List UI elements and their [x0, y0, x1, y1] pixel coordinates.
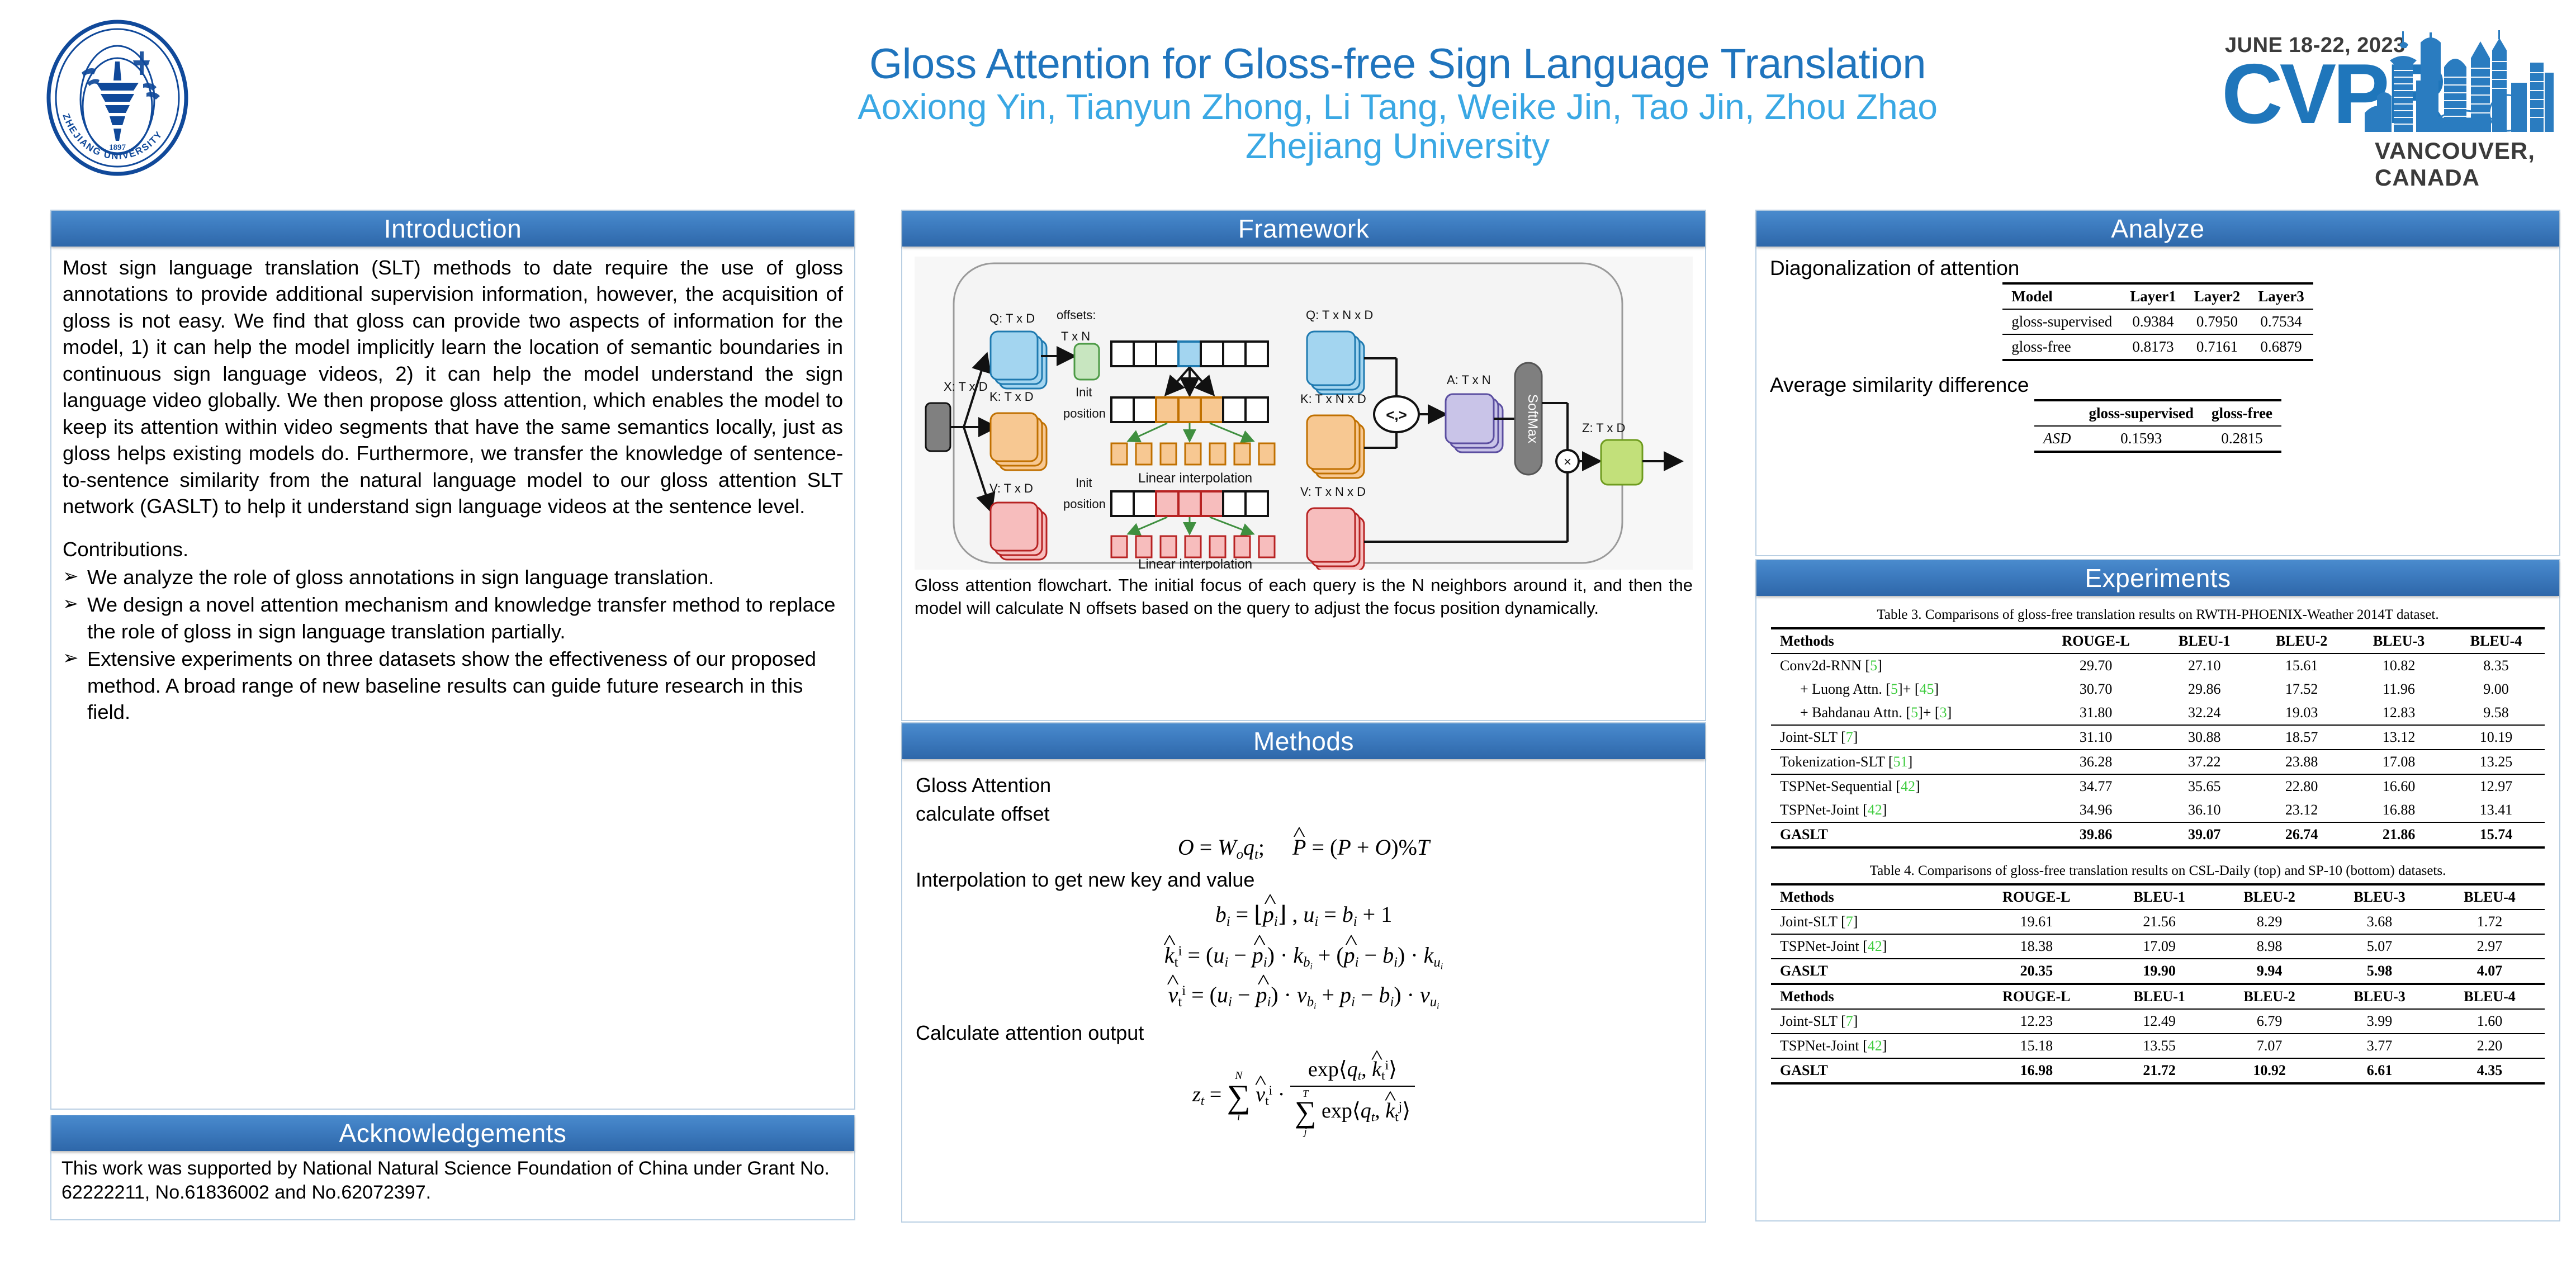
cell-value: 13.25 — [2447, 750, 2545, 774]
contribution-bullet: ➢ Extensive experiments on three dataset… — [63, 646, 843, 725]
col-header: BLEU-1 — [2156, 628, 2253, 654]
arrow-bullet-icon: ➢ — [63, 564, 87, 589]
cell-value: 18.38 — [1969, 934, 2105, 959]
svg-text:position: position — [1063, 406, 1106, 420]
cell-value: 23.12 — [2253, 798, 2350, 822]
cell-value: 12.83 — [2350, 701, 2447, 725]
cell-value: 22.80 — [2253, 774, 2350, 798]
table4: MethodsROUGE-LBLEU-1BLEU-2BLEU-3BLEU-4Jo… — [1771, 883, 2545, 1085]
cell-value: 0.7161 — [2185, 334, 2249, 360]
cell-method: GASLT — [1771, 959, 1969, 984]
poster-header: 1897 ZHEJIANG UNIVERSITY Gloss Attention… — [0, 0, 2576, 196]
svg-text:Q: T x N x D: Q: T x N x D — [1306, 308, 1373, 322]
acknowledgements-text: This work was supported by National Natu… — [61, 1157, 844, 1205]
table-row: gloss-free 0.8173 0.7161 0.6879 — [2002, 334, 2313, 360]
acknowledgements-panel: Acknowledgements This work was supported… — [50, 1115, 855, 1220]
cell-value: 3.68 — [2324, 910, 2435, 934]
cell-method: Joint-SLT [7] — [1771, 725, 2036, 750]
methods-panel: Methods Gloss Attention calculate offset… — [901, 722, 1706, 1223]
svg-text:Init: Init — [1076, 476, 1092, 490]
svg-text:SoftMax: SoftMax — [1525, 394, 1540, 443]
col-header: ROUGE-L — [2036, 628, 2156, 654]
table-row: GASLT16.9821.7210.926.614.35 — [1771, 1058, 2545, 1083]
svg-text:Linear interpolation: Linear interpolation — [1138, 557, 1252, 570]
table3-caption: Table 3. Comparisons of gloss-free trans… — [1771, 607, 2545, 623]
col-header: gloss-supervised — [2080, 400, 2203, 426]
experiments-header: Experiments — [1756, 560, 2559, 596]
cell-value: 10.92 — [2214, 1058, 2324, 1083]
contribution-text: We analyze the role of gloss annotations… — [87, 564, 843, 590]
cell-value: 19.61 — [1969, 910, 2105, 934]
cell-value: 0.9384 — [2121, 309, 2185, 334]
equation-attention-output: zt = N ∑ i vti · exp⟨qt, kti⟩ T ∑ j exp⟨… — [916, 1057, 1692, 1137]
methods-header-label: Methods — [1253, 726, 1354, 756]
cell-value: 0.1593 — [2080, 426, 2203, 452]
equation-value-interp: vti = (ui − pi) · vbi + pi − bi) · vui — [916, 982, 1692, 1011]
reference-number: 42 — [1868, 1038, 1882, 1054]
cell-value: 20.35 — [1969, 959, 2105, 984]
contribution-bullet: ➢ We analyze the role of gloss annotatio… — [63, 564, 843, 590]
cell-value: 3.77 — [2324, 1034, 2435, 1058]
contribution-text: We design a novel attention mechanism an… — [87, 591, 843, 645]
table-row: Conv2d-RNN [5]29.7027.1015.6110.828.35 — [1771, 654, 2545, 678]
cell-value: 16.98 — [1969, 1058, 2105, 1083]
methods-body: Gloss Attention calculate offset O = Woq… — [902, 759, 1705, 1147]
table-row: TSPNet-Joint [42]34.9636.1023.1216.8813.… — [1771, 798, 2545, 822]
cell-method: TSPNet-Sequential [42] — [1771, 774, 2036, 798]
svg-text:Z: T x D: Z: T x D — [1582, 421, 1625, 435]
experiments-body: Table 3. Comparisons of gloss-free trans… — [1756, 596, 2559, 1090]
analyze-header-label: Analyze — [2111, 214, 2204, 244]
framework-body: X: T x D Q: T x D K: T x D V: T x D — [902, 247, 1705, 630]
col-header: ROUGE-L — [1969, 984, 2105, 1009]
cell-value: 9.94 — [2214, 959, 2324, 984]
cell-method: Joint-SLT [7] — [1771, 1009, 1969, 1034]
cell-value: 0.6879 — [2249, 334, 2313, 360]
cell-value: 7.07 — [2214, 1034, 2324, 1058]
table3: Methods ROUGE-L BLEU-1 BLEU-2 BLEU-3 BLE… — [1771, 627, 2545, 849]
cell-value: 0.7950 — [2185, 309, 2249, 334]
svg-text:Q: T x D: Q: T x D — [989, 311, 1035, 325]
svg-text:K: T x N x D: K: T x N x D — [1300, 392, 1366, 406]
svg-text:position: position — [1063, 497, 1106, 511]
analyze-header: Analyze — [1756, 211, 2559, 247]
cell-value: 34.77 — [2036, 774, 2156, 798]
cell-method: TSPNet-Joint [42] — [1771, 1034, 1969, 1058]
cell-value: 18.57 — [2253, 725, 2350, 750]
col-header: Layer1 — [2121, 283, 2185, 309]
reference-number: 5 — [1911, 704, 1918, 721]
reference-number: 7 — [1846, 1013, 1853, 1029]
cell-value: 21.86 — [2350, 822, 2447, 847]
col-header: BLEU-1 — [2104, 984, 2214, 1009]
svg-text:V: T x D: V: T x D — [989, 481, 1033, 495]
cell-value: 10.82 — [2350, 654, 2447, 678]
diagonalization-subtitle: Diagonalization of attention — [1770, 257, 2548, 280]
cell-value: 15.61 — [2253, 654, 2350, 678]
table-row: TSPNet-Joint [42]18.3817.098.985.072.97 — [1771, 934, 2545, 959]
contribution-text: Extensive experiments on three datasets … — [87, 646, 843, 725]
framework-caption: Gloss attention flowchart. The initial f… — [915, 574, 1693, 620]
cell-value: 3.99 — [2324, 1009, 2435, 1034]
cell-value: 27.10 — [2156, 654, 2253, 678]
col-header — [2034, 400, 2080, 426]
cell-value: 30.88 — [2156, 725, 2253, 750]
cell-value: 32.24 — [2156, 701, 2253, 725]
reference-number: 7 — [1846, 913, 1853, 930]
cell-value: 26.74 — [2253, 822, 2350, 847]
cell-value: 12.97 — [2447, 774, 2545, 798]
framework-header-label: Framework — [1238, 214, 1370, 244]
col-header: BLEU-3 — [2324, 984, 2435, 1009]
svg-text:<,>: <,> — [1386, 406, 1407, 423]
col-header: Methods — [1771, 884, 1969, 910]
cell-value: 16.88 — [2350, 798, 2447, 822]
col-header: BLEU-2 — [2253, 628, 2350, 654]
contributions-label: Contributions. — [63, 536, 843, 562]
cell-value: 15.74 — [2447, 822, 2545, 847]
cell-value: 29.70 — [2036, 654, 2156, 678]
col-header: Layer2 — [2185, 283, 2249, 309]
cell-method: TSPNet-Joint [42] — [1771, 798, 2036, 822]
svg-text:T x N: T x N — [1061, 329, 1090, 343]
svg-text:Init: Init — [1076, 385, 1092, 399]
svg-text:offsets:: offsets: — [1057, 308, 1096, 322]
cell-value: 6.61 — [2324, 1058, 2435, 1083]
acknowledgements-header-label: Acknowledgements — [339, 1118, 567, 1148]
cell-value: 5.98 — [2324, 959, 2435, 984]
cell-method: GASLT — [1771, 1058, 1969, 1083]
cell-value: 36.28 — [2036, 750, 2156, 774]
cell-value: 6.79 — [2214, 1009, 2324, 1034]
diagonalization-table: Model Layer1 Layer2 Layer3 gloss-supervi… — [2002, 282, 2313, 361]
cell-value: 17.08 — [2350, 750, 2447, 774]
cell-value: 34.96 — [2036, 798, 2156, 822]
author-list: Aoxiong Yin, Tianyun Zhong, Li Tang, Wei… — [615, 87, 2180, 126]
col-header: Layer3 — [2249, 283, 2313, 309]
cell-value: 1.72 — [2435, 910, 2545, 934]
cell-value: 10.19 — [2447, 725, 2545, 750]
cell-method: Conv2d-RNN [5] — [1771, 654, 2036, 678]
svg-text:A: T x N: A: T x N — [1447, 373, 1491, 387]
table-row: + Bahdanau Attn. [5]+ [3]31.8032.2419.03… — [1771, 701, 2545, 725]
table-row: GASLT39.8639.0726.7421.8615.74 — [1771, 822, 2545, 847]
col-header: BLEU-4 — [2435, 984, 2545, 1009]
col-header: Methods — [1771, 628, 2036, 654]
col-header: ROUGE-L — [1969, 884, 2105, 910]
cell-value: 37.22 — [2156, 750, 2253, 774]
cell-value: 13.41 — [2447, 798, 2545, 822]
cell-value: 8.98 — [2214, 934, 2324, 959]
reference-number: 5 — [1870, 657, 1877, 674]
methods-section-title: Gloss Attention — [916, 773, 1692, 798]
cell-value: 12.49 — [2104, 1009, 2214, 1034]
gloss-attention-flowchart-figure: X: T x D Q: T x D K: T x D V: T x D — [915, 257, 1693, 570]
page-title: Gloss Attention for Gloss-free Sign Lang… — [615, 42, 2180, 87]
cell-value: 23.88 — [2253, 750, 2350, 774]
asd-subtitle: Average similarity difference — [1770, 373, 2548, 397]
cell-value: 13.12 — [2350, 725, 2447, 750]
zhejiang-university-logo: 1897 ZHEJIANG UNIVERSITY — [34, 17, 201, 179]
cell-value: 39.86 — [2036, 822, 2156, 847]
svg-text:V: T x N x D: V: T x N x D — [1300, 485, 1366, 499]
cell-value: 29.86 — [2156, 678, 2253, 701]
acknowledgements-body: This work was supported by National Natu… — [51, 1151, 854, 1210]
cell-value: 1.60 — [2435, 1009, 2545, 1034]
table-row: Tokenization-SLT [51]36.2837.2223.8817.0… — [1771, 750, 2545, 774]
table-row: TSPNet-Joint [42]15.1813.557.073.772.20 — [1771, 1034, 2545, 1058]
cell-value: 13.55 — [2104, 1034, 2214, 1058]
cell-value: 8.29 — [2214, 910, 2324, 934]
cell-value: 16.60 — [2350, 774, 2447, 798]
cell-method: Joint-SLT [7] — [1771, 910, 1969, 934]
equation-key-interp: kti = (ui − pi) · kbi + (pi − bi) · kui — [916, 942, 1692, 972]
cell-value: 0.2815 — [2203, 426, 2281, 452]
cell-value: 19.90 — [2104, 959, 2214, 984]
methods-step3-label: Calculate attention output — [916, 1020, 1692, 1045]
cell-value: 0.8173 — [2121, 334, 2185, 360]
col-header: Methods — [1771, 984, 1969, 1009]
equation-floor: bi = ⌊pi⌋ , ui = bi + 1 — [916, 901, 1692, 930]
cell-value: 2.97 — [2435, 934, 2545, 959]
methods-header: Methods — [902, 723, 1705, 759]
asd-table: gloss-supervised gloss-free ASD 0.1593 0… — [2034, 399, 2281, 453]
cell-value: 17.52 — [2253, 678, 2350, 701]
cell-value: 35.65 — [2156, 774, 2253, 798]
col-header: BLEU-2 — [2214, 984, 2324, 1009]
cell-value: 31.80 — [2036, 701, 2156, 725]
cell-value: 17.09 — [2104, 934, 2214, 959]
cell-metric: ASD — [2034, 426, 2080, 452]
table-row: ASD 0.1593 0.2815 — [2034, 426, 2281, 452]
reference-number: 42 — [1868, 938, 1882, 954]
svg-text:Linear interpolation: Linear interpolation — [1138, 471, 1252, 486]
title-block: Gloss Attention for Gloss-free Sign Lang… — [615, 42, 2180, 165]
framework-panel: Framework X: T x D — [901, 210, 1706, 721]
col-header: BLEU-2 — [2214, 884, 2324, 910]
cell-value: 4.07 — [2435, 959, 2545, 984]
cell-value: 2.20 — [2435, 1034, 2545, 1058]
cell-model: gloss-free — [2002, 334, 2121, 360]
cell-value: 39.07 — [2156, 822, 2253, 847]
cell-value: 11.96 — [2350, 678, 2447, 701]
table-row: Joint-SLT [7]31.1030.8818.5713.1210.19 — [1771, 725, 2545, 750]
cvpr-logo: JUNE 18-22, 2023 CVPR — [2225, 27, 2555, 167]
cvpr-city-label: VANCOUVER, CANADA — [2375, 138, 2555, 191]
cell-method: Tokenization-SLT [51] — [1771, 750, 2036, 774]
introduction-header-label: Introduction — [384, 214, 522, 244]
cell-value: 31.10 — [2036, 725, 2156, 750]
cell-value: 4.35 — [2435, 1058, 2545, 1083]
reference-number: 5 — [1891, 681, 1898, 697]
cell-method: GASLT — [1771, 822, 2036, 847]
analyze-panel: Analyze Diagonalization of attention Mod… — [1755, 210, 2560, 556]
table-row: Joint-SLT [7]19.6121.568.293.681.72 — [1771, 910, 2545, 934]
cell-value: 8.35 — [2447, 654, 2545, 678]
experiments-header-label: Experiments — [2085, 563, 2231, 593]
reference-number: 45 — [1920, 681, 1934, 697]
introduction-paragraph: Most sign language translation (SLT) met… — [63, 254, 843, 519]
reference-number: 3 — [1940, 704, 1947, 721]
table-header-row: MethodsROUGE-LBLEU-1BLEU-2BLEU-3BLEU-4 — [1771, 984, 2545, 1009]
framework-header: Framework — [902, 211, 1705, 247]
col-header: BLEU-3 — [2350, 628, 2447, 654]
table-row: TSPNet-Sequential [42]34.7735.6522.8016.… — [1771, 774, 2545, 798]
table-row: + Luong Attn. [5]+ [45]30.7029.8617.5211… — [1771, 678, 2545, 701]
affiliation: Zhejiang University — [615, 126, 2180, 165]
cell-value: 0.7534 — [2249, 309, 2313, 334]
table-row: GASLT20.3519.909.945.984.07 — [1771, 959, 2545, 984]
reference-number: 7 — [1846, 729, 1853, 745]
cell-value: 19.03 — [2253, 701, 2350, 725]
reference-number: 51 — [1893, 754, 1908, 770]
cell-value: 30.70 — [2036, 678, 2156, 701]
table4-caption: Table 4. Comparisons of gloss-free trans… — [1771, 863, 2545, 879]
introduction-panel: Introduction Most sign language translat… — [50, 210, 855, 1110]
vancouver-skyline-icon — [2365, 29, 2555, 135]
svg-text:X: T x D: X: T x D — [944, 380, 988, 394]
equation-offset: O = Woqt; P = (P + O)%T — [916, 834, 1692, 863]
table-row: gloss-supervised 0.9384 0.7950 0.7534 — [2002, 309, 2313, 334]
cell-method: TSPNet-Joint [42] — [1771, 934, 1969, 959]
cell-value: 21.56 — [2104, 910, 2214, 934]
table-row: Joint-SLT [7]12.2312.496.793.991.60 — [1771, 1009, 2545, 1034]
methods-step2-label: Interpolation to get new key and value — [916, 867, 1692, 892]
cell-method: + Bahdanau Attn. [5]+ [3] — [1771, 701, 2036, 725]
analyze-body: Diagonalization of attention Model Layer… — [1756, 247, 2559, 460]
cell-method: + Luong Attn. [5]+ [45] — [1771, 678, 2036, 701]
arrow-bullet-icon: ➢ — [63, 646, 87, 670]
reference-number: 42 — [1901, 778, 1915, 794]
experiments-panel: Experiments Table 3. Comparisons of glos… — [1755, 559, 2560, 1221]
col-header: BLEU-3 — [2324, 884, 2435, 910]
svg-text:×: × — [1564, 454, 1571, 470]
col-header: BLEU-1 — [2104, 884, 2214, 910]
cell-value: 12.23 — [1969, 1009, 2105, 1034]
acknowledgements-header: Acknowledgements — [51, 1115, 854, 1151]
contribution-bullet: ➢ We design a novel attention mechanism … — [63, 591, 843, 645]
reference-number: 42 — [1868, 802, 1882, 818]
cell-value: 5.07 — [2324, 934, 2435, 959]
cell-value: 36.10 — [2156, 798, 2253, 822]
cell-value: 9.00 — [2447, 678, 2545, 701]
introduction-body: Most sign language translation (SLT) met… — [51, 247, 854, 733]
introduction-header: Introduction — [51, 211, 854, 247]
col-header: gloss-free — [2203, 400, 2281, 426]
col-header: BLEU-4 — [2435, 884, 2545, 910]
cell-value: 15.18 — [1969, 1034, 2105, 1058]
cell-value: 21.72 — [2104, 1058, 2214, 1083]
cell-value: 9.58 — [2447, 701, 2545, 725]
table-header-row: MethodsROUGE-LBLEU-1BLEU-2BLEU-3BLEU-4 — [1771, 884, 2545, 910]
arrow-bullet-icon: ➢ — [63, 591, 87, 616]
col-header: Model — [2002, 283, 2121, 309]
svg-text:K: T x D: K: T x D — [989, 390, 1034, 404]
col-header: BLEU-4 — [2447, 628, 2545, 654]
cell-model: gloss-supervised — [2002, 309, 2121, 334]
